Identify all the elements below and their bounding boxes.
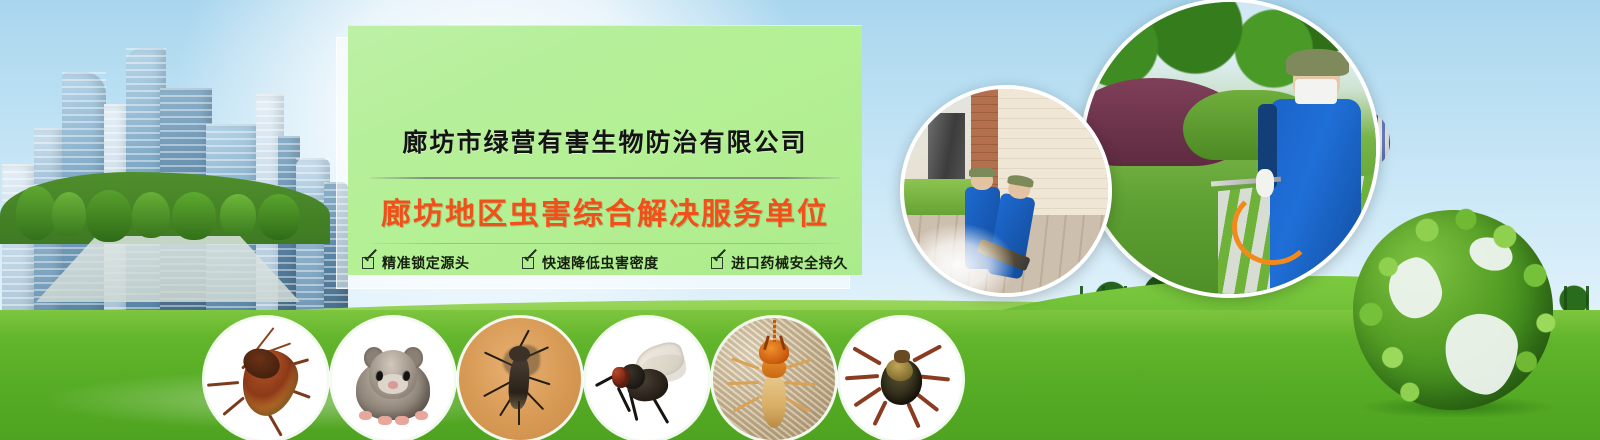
checkbox-checked-icon [522, 256, 536, 270]
garden-spraying-photo [1080, 0, 1380, 298]
feature-item-3: 进口药械安全持久 [711, 253, 848, 273]
feature-label: 快速降低虫害密度 [542, 253, 659, 273]
feature-label: 精准锁定源头 [382, 253, 470, 273]
pest-circle-mosquito [459, 318, 581, 440]
feature-item-1: 精准锁定源头 [362, 253, 470, 273]
pest-circle-termite [713, 318, 835, 440]
feature-label: 进口药械安全持久 [731, 253, 848, 273]
headline-panel: 廊坊市绿营有害生物防治有限公司 廊坊地区虫害综合解决服务单位 精准锁定源头 快速… [348, 25, 862, 275]
checkbox-checked-icon [711, 256, 725, 270]
feature-item-2: 快速降低虫害密度 [522, 253, 659, 273]
tagline: 廊坊地区虫害综合解决服务单位 [348, 189, 862, 233]
worker-figure [1253, 49, 1370, 298]
feature-list: 精准锁定源头 快速降低虫害密度 进口药械安全持久 [362, 253, 848, 273]
pest-circle-mouse [332, 318, 454, 440]
city-skyline [0, 0, 360, 340]
divider-bottom [370, 243, 840, 244]
checkbox-checked-icon [362, 256, 376, 270]
pest-circle-fly [586, 318, 708, 440]
green-leaf-globe [1353, 210, 1573, 410]
divider-top [370, 177, 840, 179]
fogging-crew-photo [900, 85, 1112, 297]
promo-banner: 廊坊市绿营有害生物防治有限公司 廊坊地区虫害综合解决服务单位 精准锁定源头 快速… [0, 0, 1600, 440]
company-name: 廊坊市绿营有害生物防治有限公司 [348, 123, 862, 159]
pest-circle-cockroach [205, 318, 327, 440]
fog-smoke [920, 224, 1014, 293]
pest-circle-tick [840, 318, 962, 440]
